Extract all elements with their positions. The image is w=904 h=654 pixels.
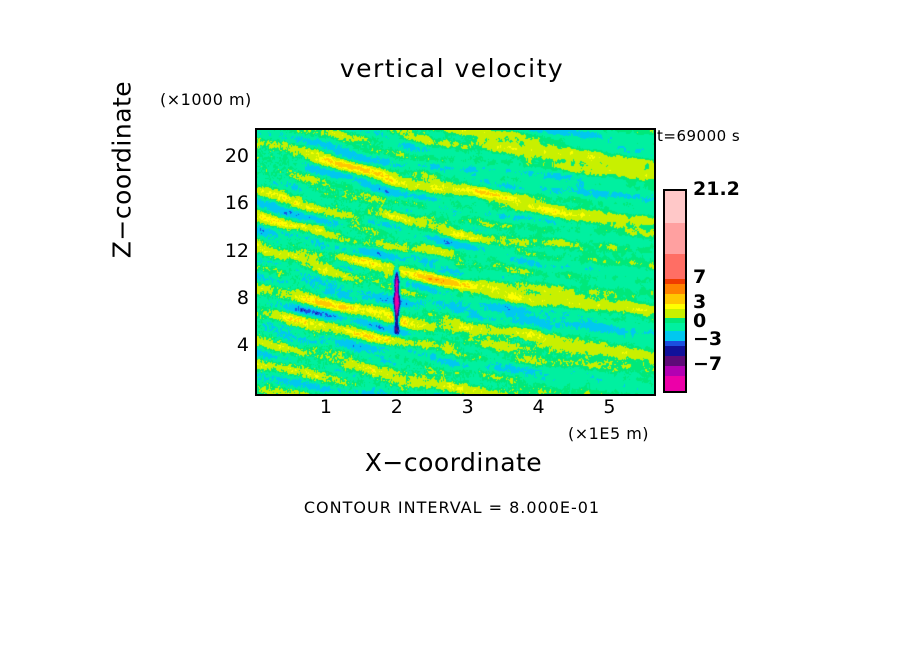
colorbar-band [665, 294, 685, 304]
y-tick-label: 4 [209, 334, 249, 356]
colorbar-band [665, 331, 685, 341]
y-tick-label: 16 [209, 192, 249, 214]
vertical-velocity-contour-field [257, 130, 654, 394]
colorbar-gradient-bar [663, 189, 687, 393]
colorbar: 21.2730−3−7 [663, 189, 793, 391]
colorbar-tick-label: −3 [693, 330, 722, 349]
y-tick-label: 12 [209, 240, 249, 262]
x-tick-label: 5 [589, 396, 629, 418]
colorbar-band [665, 191, 685, 223]
colorbar-band [665, 356, 685, 366]
colorbar-band [665, 376, 685, 391]
x-tick-label: 4 [519, 396, 559, 418]
colorbar-band [665, 366, 685, 376]
time-annotation: t=69000 s [657, 127, 740, 145]
y-tick-label: 20 [209, 145, 249, 167]
x-tick-label: 3 [448, 396, 488, 418]
contour-interval-caption: CONTOUR INTERVAL = 8.000E-01 [0, 498, 904, 517]
colorbar-tick-label: 7 [693, 268, 706, 287]
y-axis-unit-label: (×1000 m) [160, 90, 252, 109]
x-axis-tick-labels: 12345 [255, 396, 652, 422]
x-tick-label: 2 [377, 396, 417, 418]
colorbar-band [665, 223, 685, 254]
colorbar-tick-label: −7 [693, 355, 722, 374]
x-tick-label: 1 [306, 396, 346, 418]
x-axis-unit-label: (×1E5 m) [568, 424, 649, 443]
colorbar-band [665, 284, 685, 294]
colorbar-band [665, 346, 685, 356]
colorbar-band [665, 323, 685, 332]
contour-plot-area [255, 128, 656, 396]
colorbar-band [665, 254, 685, 279]
y-axis-title: Z−coordinate [108, 40, 137, 300]
colorbar-band [665, 309, 685, 318]
colorbar-tick-label: 21.2 [693, 180, 740, 199]
y-axis-tick-labels: 48121620 [205, 128, 249, 392]
y-tick-label: 8 [209, 287, 249, 309]
x-axis-title: X−coordinate [255, 448, 652, 477]
